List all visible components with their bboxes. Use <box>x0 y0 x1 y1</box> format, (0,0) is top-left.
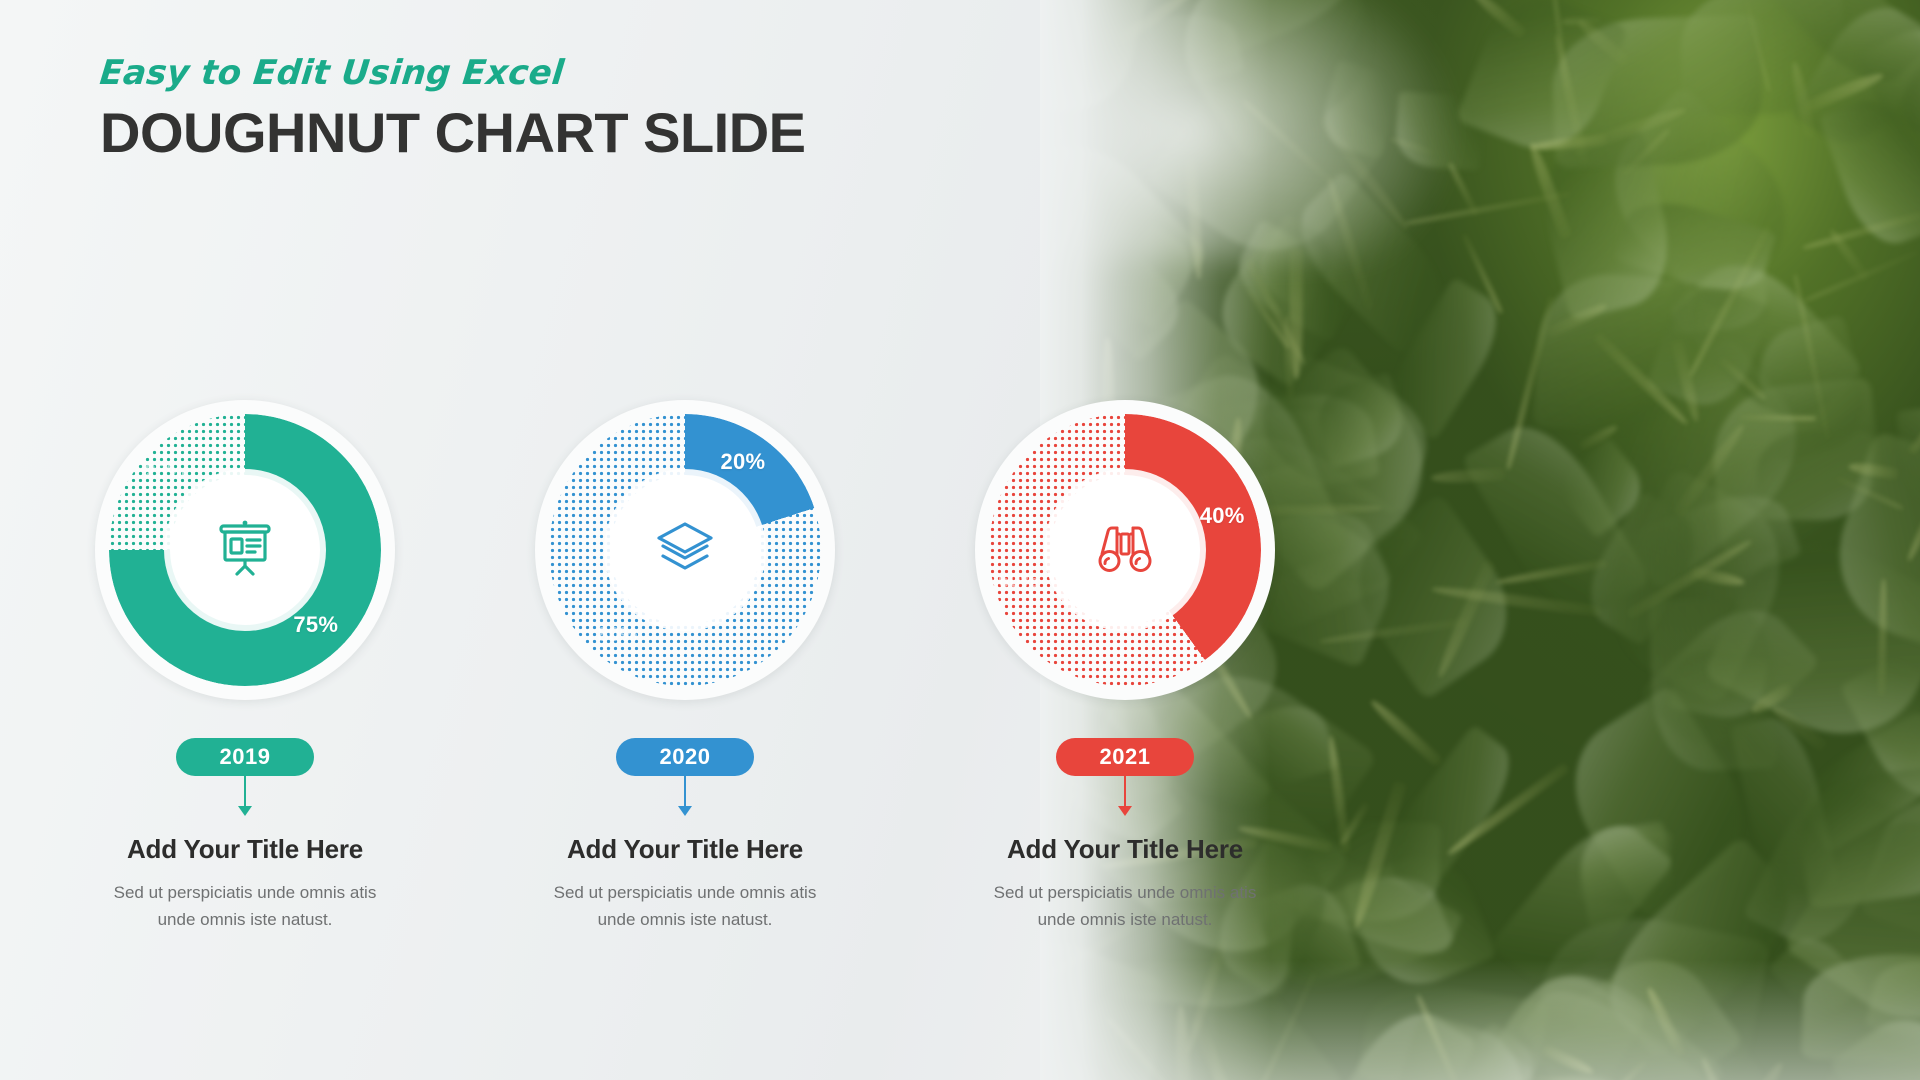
item-title: Add Your Title Here <box>1007 834 1243 865</box>
donut-value-label: 20% <box>720 449 765 475</box>
donut-center-hole <box>1050 475 1200 625</box>
arrow-head <box>238 806 252 816</box>
slide-canvas: Easy to Edit Using Excel DOUGHNUT CHART … <box>0 0 1920 1080</box>
arrow-stem <box>684 776 686 808</box>
layers-stack-icon <box>653 516 717 585</box>
arrow-head <box>678 806 692 816</box>
donut-remainder-label: 80% <box>598 624 638 647</box>
page-title: DOUGHNUT CHART SLIDE <box>100 104 806 163</box>
donut-column-2020: 20%80%2020Add Your Title HereSed ut pers… <box>465 400 905 933</box>
item-body: Sed ut perspiciatis unde omnis atis unde… <box>975 879 1275 933</box>
donut-center-hole <box>170 475 320 625</box>
item-body: Sed ut perspiciatis unde omnis atis unde… <box>535 879 835 933</box>
item-body: Sed ut perspiciatis unde omnis atis unde… <box>95 879 395 933</box>
donut-column-2019: 75%25%2019Add Your Title HereSed ut pers… <box>25 400 465 933</box>
arrow-stem <box>1124 776 1126 808</box>
header-block: Easy to Edit Using Excel DOUGHNUT CHART … <box>100 56 806 163</box>
year-badge-2019[interactable]: 2019 <box>176 738 314 776</box>
donut-chart-2020[interactable]: 20%80% <box>535 400 835 700</box>
presentation-board-icon <box>213 516 277 585</box>
down-arrow-icon <box>236 776 254 820</box>
item-title: Add Your Title Here <box>127 834 363 865</box>
donut-value-label: 40% <box>1200 503 1245 529</box>
down-arrow-icon <box>676 776 694 820</box>
item-title: Add Your Title Here <box>567 834 803 865</box>
donut-remainder-label: 25% <box>145 461 185 484</box>
arrow-head <box>1118 806 1132 816</box>
year-badge-2020[interactable]: 2020 <box>616 738 754 776</box>
arrow-stem <box>244 776 246 808</box>
donut-column-2021: 40%60%2021Add Your Title HereSed ut pers… <box>905 400 1345 933</box>
donut-columns: 75%25%2019Add Your Title HereSed ut pers… <box>0 400 1430 933</box>
donut-value-label: 75% <box>293 612 338 638</box>
year-badge-2021[interactable]: 2021 <box>1056 738 1194 776</box>
donut-chart-2021[interactable]: 40%60% <box>975 400 1275 700</box>
donut-remainder-label: 60% <box>998 570 1038 593</box>
donut-chart-2019[interactable]: 75%25% <box>95 400 395 700</box>
down-arrow-icon <box>1116 776 1134 820</box>
binoculars-icon <box>1093 516 1157 585</box>
donut-center-hole <box>610 475 760 625</box>
eyebrow-text: Easy to Edit Using Excel <box>98 56 807 90</box>
